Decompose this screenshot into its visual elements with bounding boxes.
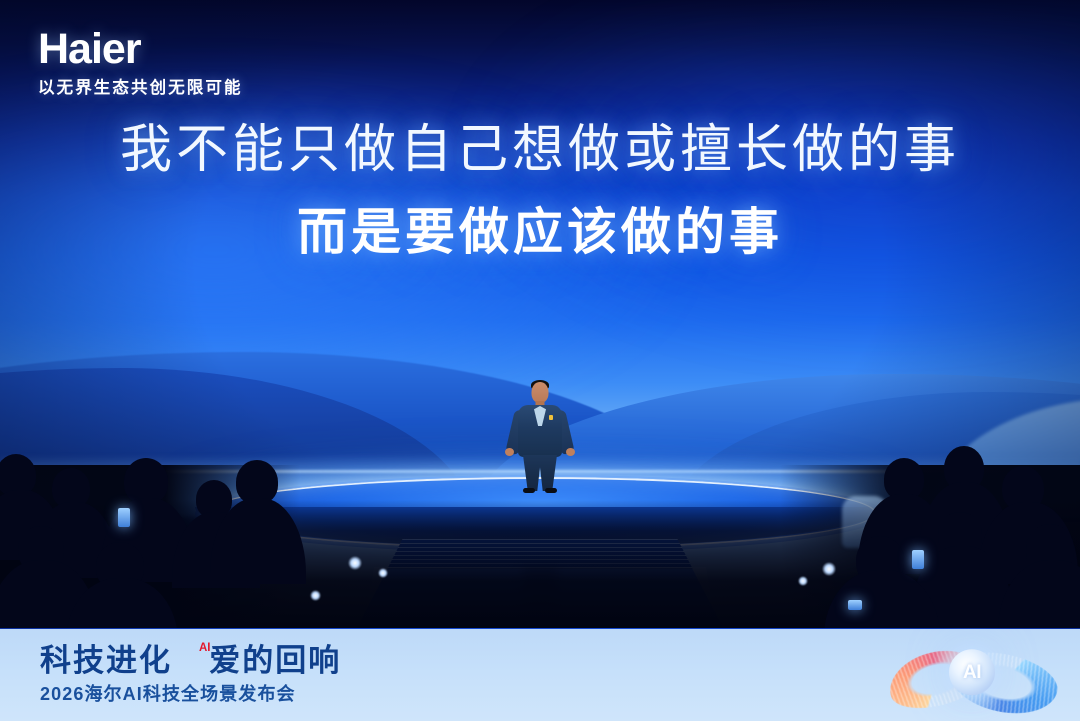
speaker-hand-right (566, 448, 575, 456)
speaker-hand-left (505, 448, 514, 456)
ai-orb: AI (949, 649, 995, 695)
headline-line-2: 而是要做应该做的事 (0, 202, 1080, 263)
keynote-screenshot: Haier 以无界生态共创无限可能 我不能只做自己想做或擅长做的事 而是要做应该… (0, 0, 1080, 721)
banner-subtitle: 2026海尔AI科技全场景发布会 (40, 685, 341, 705)
event-bottom-banner: 科技进化 爱的回响 AI 2026海尔AI科技全场景发布会 AI (0, 628, 1080, 721)
haier-logo-wordmark: Haier (38, 28, 243, 71)
haier-ai-ribbon-logo: AI (886, 634, 1058, 716)
speaker-head (532, 382, 549, 403)
ai-red-mark: AI (199, 643, 211, 655)
speaker-trousers (523, 455, 557, 491)
speaker-shoe-left (523, 488, 535, 493)
runway-steps (349, 539, 731, 569)
haier-tagline: 以无界生态共创无限可能 (38, 80, 243, 97)
headline-line-1: 我不能只做自己想做或擅长做的事 (0, 118, 1080, 182)
keynote-speaker (502, 382, 578, 492)
banner-title-part2: 爱的回响 (209, 643, 341, 678)
banner-title: 科技进化 爱的回响 AI (40, 644, 341, 678)
banner-title-part1: 科技进化 (40, 643, 172, 678)
speaker-shoe-right (545, 488, 557, 493)
banner-top-accent-line (0, 628, 1080, 629)
ai-orb-label: AI (963, 663, 981, 682)
brand-header: Haier 以无界生态共创无限可能 (38, 28, 243, 97)
banner-text-block: 科技进化 爱的回响 AI 2026海尔AI科技全场景发布会 (40, 644, 341, 705)
speaker-lapel-badge (549, 415, 553, 420)
headline-quote: 我不能只做自己想做或擅长做的事 而是要做应该做的事 (0, 118, 1080, 263)
